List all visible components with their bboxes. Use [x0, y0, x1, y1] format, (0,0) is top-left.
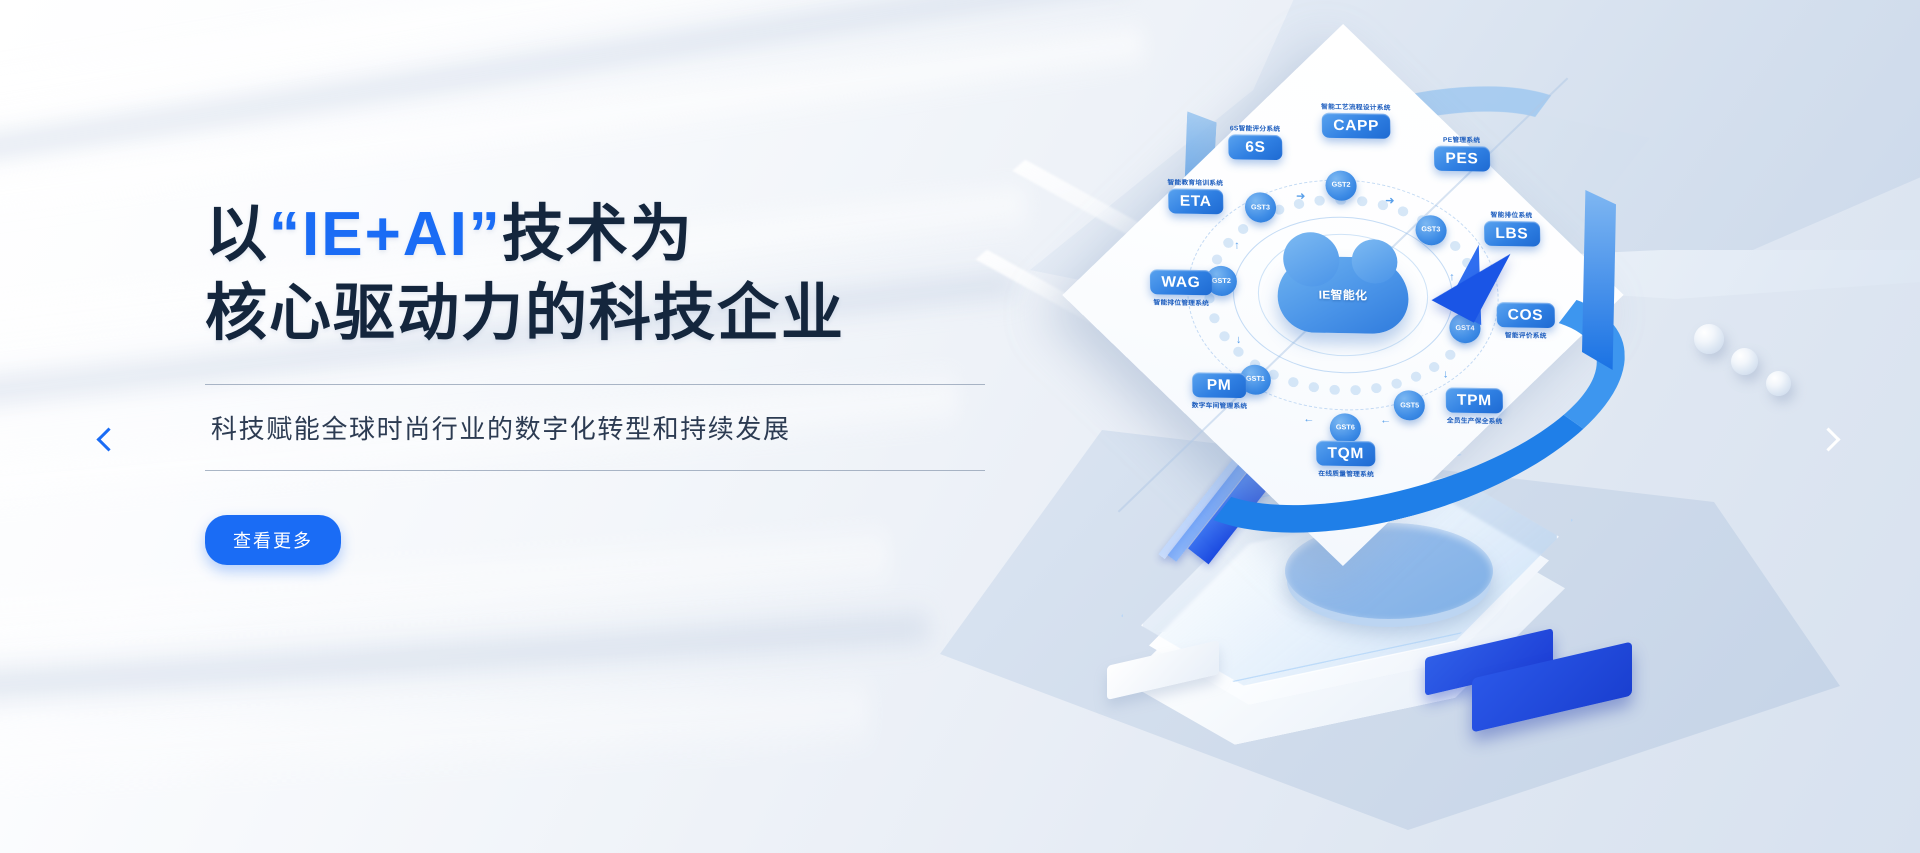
headline-line-1: 以“IE+AI”技术为	[205, 195, 1025, 274]
divider-top	[205, 384, 985, 385]
module-code: TPM	[1445, 388, 1503, 414]
module-chip-eta[interactable]: 智能教育培训系统 ETA	[1167, 176, 1223, 214]
flow-arrow-icon: ➜	[1296, 191, 1306, 202]
headline-suffix: 技术为	[502, 200, 694, 269]
page-title: 以“IE+AI”技术为 核心驱动力的科技企业	[205, 195, 1025, 354]
background-wave-shadow	[0, 0, 1135, 203]
systems-diagram-card: IE智能化 GST2 GST3 GST4 GST5 GST6 GST1 GST2…	[1062, 24, 1623, 566]
gst-node[interactable]: GST3	[1415, 215, 1447, 246]
hero-copy: 以“IE+AI”技术为 核心驱动力的科技企业 科技赋能全球时尚行业的数字化转型和…	[205, 195, 1025, 565]
decorative-sphere	[1731, 348, 1758, 375]
module-chip-tqm[interactable]: 在线质量管理系统 TQM	[1316, 440, 1376, 478]
background-wave-shadow	[0, 602, 930, 731]
module-chip-6s[interactable]: 6S智能评分系统 6S	[1228, 122, 1283, 160]
hero-subtitle: 科技赋能全球时尚行业的数字化转型和持续发展	[205, 385, 1025, 470]
module-code: CAPP	[1322, 112, 1391, 138]
gst-node[interactable]: GST3	[1245, 192, 1277, 223]
headline-line-2: 核心驱动力的科技企业	[205, 274, 1025, 353]
headline-accent: “IE+AI”	[269, 200, 502, 269]
decorative-sphere	[1766, 371, 1791, 396]
flow-arrow-icon: ↓	[1236, 335, 1242, 346]
center-cloud: IE智能化	[1277, 256, 1409, 334]
module-caption: 在线质量管理系统	[1318, 467, 1374, 478]
module-caption: 全员生产保全系统	[1447, 415, 1503, 426]
background-wave	[0, 0, 1236, 169]
module-caption: PE管理系统	[1443, 133, 1480, 144]
module-code: COS	[1496, 302, 1555, 328]
hero-banner: IE智能化 GST2 GST3 GST4 GST5 GST6 GST1 GST2…	[0, 0, 1920, 853]
module-code: TQM	[1316, 440, 1376, 466]
module-code: PM	[1192, 372, 1246, 398]
gst-node[interactable]: GST2	[1325, 170, 1357, 201]
module-caption: 数字车间管理系统	[1192, 399, 1248, 410]
gst-node[interactable]: GST6	[1330, 413, 1362, 444]
module-caption: 智能教育培训系统	[1167, 176, 1223, 187]
module-code: WAG	[1150, 269, 1212, 295]
module-caption: 智能排位系统	[1491, 209, 1533, 220]
module-code: LBS	[1484, 220, 1540, 246]
flow-arrow-icon: ↓	[1443, 369, 1449, 380]
module-caption: 智能工艺流程设计系统	[1321, 100, 1391, 111]
carousel-next-button[interactable]	[1805, 416, 1851, 462]
gst-node[interactable]: GST5	[1394, 390, 1426, 421]
carousel-prev-button[interactable]	[85, 416, 131, 462]
background-wave	[0, 667, 871, 822]
module-chip-capp[interactable]: 智能工艺流程设计系统 CAPP	[1321, 100, 1391, 138]
module-caption: 智能评价系统	[1505, 330, 1547, 341]
flow-arrow-icon: ➜	[1385, 196, 1395, 207]
module-chip-pes[interactable]: PE管理系统 PES	[1434, 133, 1491, 171]
module-chip-cos[interactable]: 智能评价系统 COS	[1496, 302, 1555, 340]
flow-arrow-icon: ←	[1380, 415, 1392, 426]
module-chip-wag[interactable]: 智能排位管理系统 WAG	[1150, 269, 1213, 307]
view-more-button[interactable]: 查看更多	[205, 515, 341, 565]
module-caption: 智能排位管理系统	[1153, 296, 1209, 307]
headline-prefix: 以	[205, 200, 269, 269]
module-chip-pm[interactable]: 数字车间管理系统 PM	[1191, 372, 1247, 410]
chevron-right-icon	[1816, 427, 1840, 451]
module-caption: 6S智能评分系统	[1230, 122, 1281, 133]
center-cloud-label: IE智能化	[1319, 287, 1368, 304]
module-code: ETA	[1168, 188, 1223, 214]
module-code: 6S	[1228, 134, 1282, 160]
decorative-sphere	[1694, 324, 1724, 354]
flow-arrow-icon: ↑	[1234, 241, 1240, 252]
flow-arrow-icon: ←	[1303, 414, 1315, 425]
module-chip-lbs[interactable]: 智能排位系统 LBS	[1483, 208, 1540, 246]
chevron-left-icon	[96, 427, 120, 451]
module-code: PES	[1434, 145, 1490, 171]
module-chip-tpm[interactable]: 全员生产保全系统 TPM	[1445, 388, 1503, 426]
divider-bottom	[205, 470, 985, 471]
